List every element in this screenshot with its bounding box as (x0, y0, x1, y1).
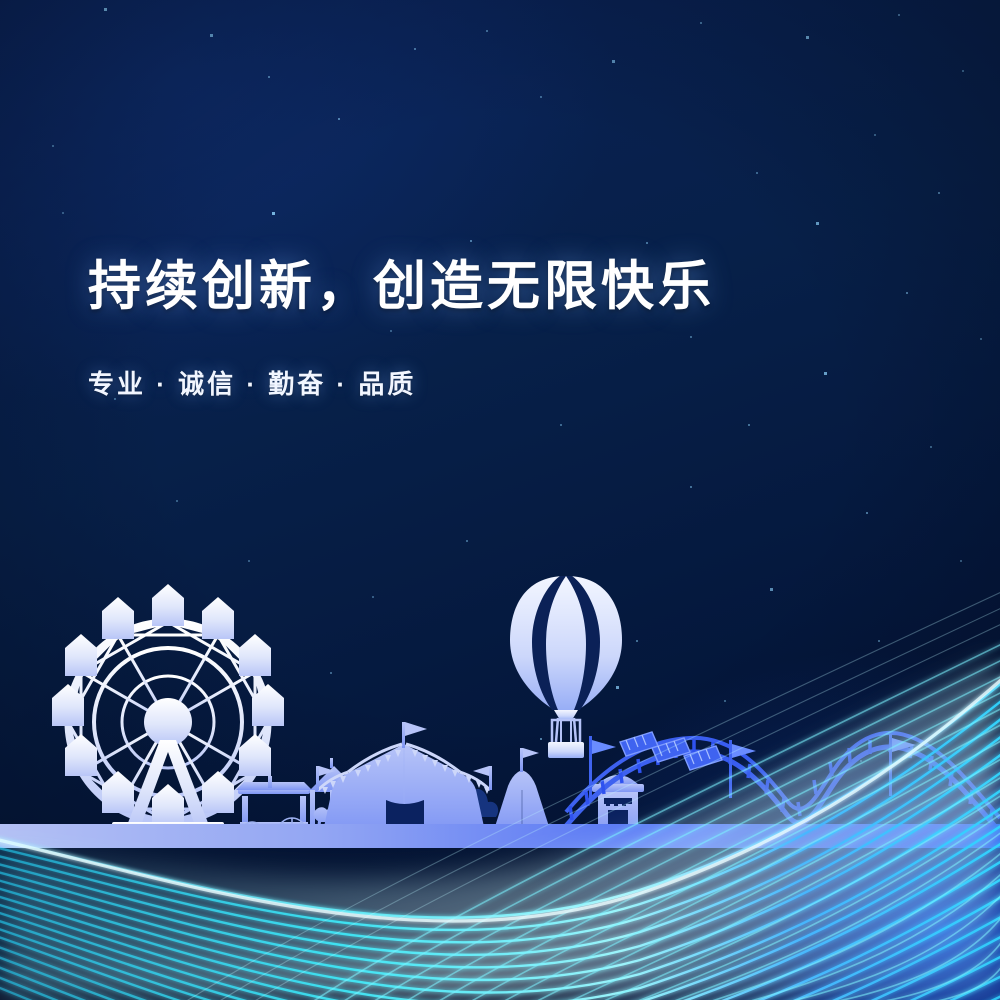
page-title: 持续创新，创造无限快乐 (88, 258, 928, 316)
wave-mesh-graphic (0, 0, 1000, 1000)
tagline: 专业 · 诚信 · 勤奋 · 品质 (88, 316, 928, 401)
poster-copy: 持续创新，创造无限快乐 专业 · 诚信 · 勤奋 · 品质 (88, 258, 928, 401)
poster-canvas: 持续创新，创造无限快乐 专业 · 诚信 · 勤奋 · 品质 (0, 0, 1000, 1000)
